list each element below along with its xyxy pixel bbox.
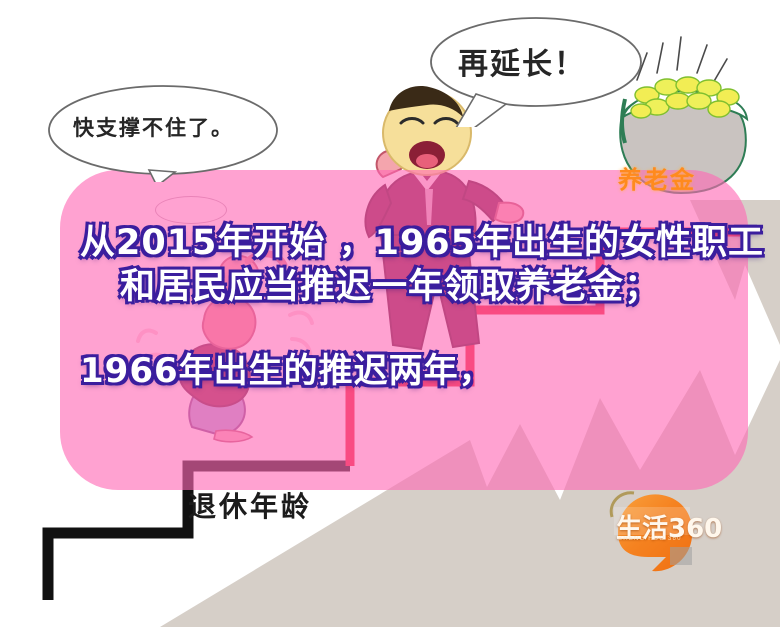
subtitle-line-2: 和居民应当推迟一年领取养老金； xyxy=(120,258,660,309)
video-frame: 从2015年开始 ，1965年出生的女性职工 和居民应当推迟一年领取养老金； 1… xyxy=(0,0,780,627)
subtitle-line-3: 1966年出生的推迟两年， xyxy=(80,343,494,392)
speech-bubble-left: 快支撑不住了。 xyxy=(45,82,285,182)
money-bag-label: 养老金 xyxy=(618,160,696,195)
speech-bubble-right: 再延长！ xyxy=(420,12,645,127)
speech-bubble-left-text: 快支撑不住了。 xyxy=(73,112,234,142)
retirement-age-label: 退休年龄 xyxy=(188,485,312,525)
channel-logo-subtext: SHENG HUO 360 xyxy=(618,536,682,542)
speech-bubble-right-text: 再延长！ xyxy=(458,39,586,83)
